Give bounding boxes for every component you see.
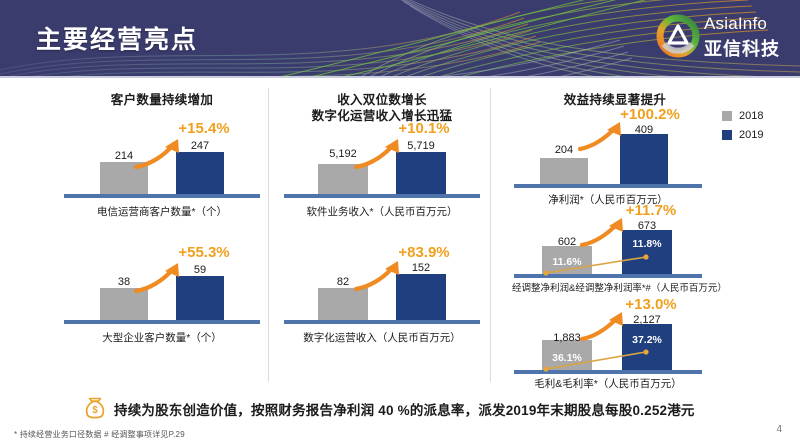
bar-2019 — [622, 230, 672, 274]
asiainfo-logo: AsiaInfo 亚信科技 — [656, 8, 788, 66]
chart-software-revenue: 5,192 5,719 +10.1% 软件业务收入*（人民币百万元） — [282, 118, 482, 214]
chart-baseline — [514, 370, 702, 374]
slide-header: 主要经营亮点 AsiaInfo 亚信科技 — [0, 0, 800, 78]
chart-digital-operations-revenue: 82 152 +83.9% 数字化运营收入（人民币百万元） — [282, 244, 482, 340]
value-label-2019: 2,127 — [616, 314, 678, 326]
growth-label: +83.9% — [386, 244, 462, 261]
chart-baseline — [514, 184, 702, 188]
bar-2019 — [620, 134, 668, 184]
chart-axis-label: 电信运营商客户数量*（个） — [62, 204, 262, 219]
chart-axis-label: 大型企业客户数量*（个） — [62, 330, 262, 345]
chart-axis-label: 经调整净利润&经调整净利润率*#（人民币百万元） — [512, 280, 704, 294]
column-divider-1 — [268, 88, 269, 382]
margin-label-2019: 37.2% — [622, 334, 672, 346]
margin-label-2019: 11.8% — [622, 238, 672, 250]
svg-text:$: $ — [92, 405, 98, 416]
value-label-2019: 5,719 — [390, 140, 452, 152]
growth-label: +15.4% — [166, 120, 242, 137]
legend-item-2019: 2019 — [722, 129, 763, 141]
chart-adjusted-net-profit: 602 673 +11.7% 11.6% 11.8% 经调整净利润&经调整净利润… — [512, 206, 704, 296]
growth-label: +13.0% — [610, 296, 692, 313]
chart-axis-label: 数字化运营收入（人民币百万元） — [282, 330, 482, 345]
value-label-2019: 247 — [176, 140, 224, 152]
value-label-2019: 673 — [622, 220, 672, 232]
chart-baseline — [64, 320, 260, 324]
bar-2018 — [540, 158, 588, 184]
growth-label: +11.7% — [610, 202, 692, 219]
bar-2019 — [622, 324, 672, 370]
bar-2019 — [396, 152, 446, 194]
chart-gross-profit: 1,883 2,127 +13.0% 36.1% 37.2% 毛利&毛利率*（人… — [512, 300, 704, 390]
chart-baseline — [284, 320, 480, 324]
money-bag-icon: $ — [82, 396, 108, 422]
value-label-2018: 602 — [542, 236, 592, 248]
slide: 主要经营亮点 AsiaInfo 亚信科技 客 — [0, 0, 800, 447]
chart-net-profit: 204 409 +100.2% 净利润*（人民币百万元） — [512, 112, 704, 202]
chart-telecom-customers: 214 247 +15.4% 电信运营商客户数量*（个） — [62, 118, 262, 214]
footer-highlight-text: 持续为股东创造价值，按照财务报告净利润 40 %的派息率，派发2019年末期股息… — [114, 399, 695, 419]
chart-baseline — [284, 194, 480, 198]
legend-item-2018: 2018 — [722, 110, 763, 122]
bar-2018 — [318, 288, 368, 320]
header-bottom-rule — [0, 76, 800, 78]
bar-2019 — [396, 274, 446, 320]
chart-baseline — [64, 194, 260, 198]
legend-swatch-2018 — [722, 111, 732, 121]
value-label-2019: 409 — [620, 124, 668, 136]
footnotes: * 持续经营业务口径数据 # 经调整事项详见P.29 — [14, 429, 185, 440]
value-label-2019: 152 — [396, 262, 446, 274]
value-label-2018: 1,883 — [536, 332, 598, 344]
legend-label-2018: 2018 — [739, 110, 763, 122]
chart-legend: 2018 2019 — [722, 110, 763, 148]
column-title-customers: 客户数量持续增加 — [62, 92, 262, 108]
value-label-2018: 5,192 — [312, 148, 374, 160]
bar-2018 — [100, 162, 148, 194]
value-label-2018: 82 — [318, 276, 368, 288]
logo-text-cn: 亚信科技 — [704, 35, 780, 61]
growth-label: +55.3% — [166, 244, 242, 261]
chart-baseline — [514, 274, 702, 278]
growth-label: +100.2% — [608, 106, 692, 123]
logo-text-en: AsiaInfo — [704, 14, 767, 34]
legend-label-2019: 2019 — [739, 129, 763, 141]
bar-2018 — [100, 288, 148, 320]
value-label-2019: 59 — [176, 264, 224, 276]
bar-2019 — [176, 276, 224, 320]
value-label-2018: 38 — [100, 276, 148, 288]
legend-swatch-2019 — [722, 130, 732, 140]
bar-2018 — [318, 164, 368, 194]
page-title: 主要经营亮点 — [36, 20, 198, 56]
column-divider-2 — [490, 88, 491, 382]
page-number: 4 — [776, 424, 782, 435]
value-label-2018: 214 — [100, 150, 148, 162]
asiainfo-logo-mark — [656, 14, 700, 58]
chart-enterprise-customers: 38 59 +55.3% 大型企业客户数量*（个） — [62, 244, 262, 340]
value-label-2018: 204 — [540, 144, 588, 156]
margin-label-2018: 11.6% — [538, 256, 596, 268]
chart-axis-label: 毛利&毛利率*（人民币百万元） — [512, 376, 704, 391]
margin-label-2018: 36.1% — [538, 352, 596, 364]
growth-label: +10.1% — [386, 120, 462, 137]
chart-axis-label: 软件业务收入*（人民币百万元） — [282, 204, 482, 219]
column-title-revenue-line1: 收入双位数增长 — [282, 92, 482, 108]
bar-2019 — [176, 152, 224, 194]
